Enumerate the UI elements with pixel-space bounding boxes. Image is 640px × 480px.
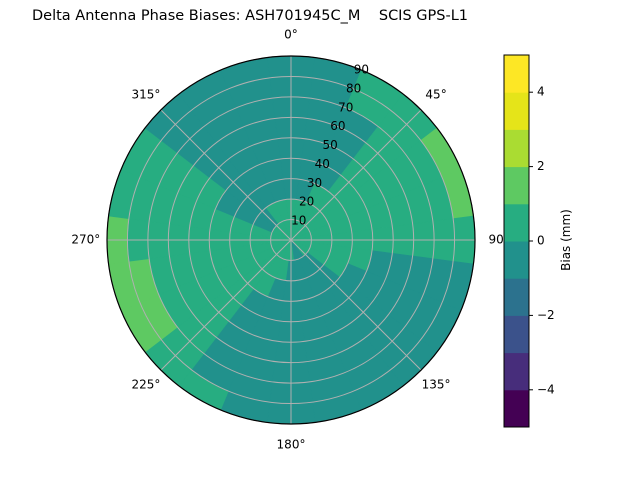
colorbar-tick-labels: 420−2−4	[529, 85, 555, 397]
colorbar-swatch	[504, 241, 529, 279]
colorbar-swatch	[504, 278, 529, 316]
colorbar-swatches	[504, 55, 529, 428]
colorbar-tick-label: −2	[537, 308, 555, 322]
colorbar-swatch	[504, 129, 529, 167]
colorbar-swatch	[504, 167, 529, 205]
colorbar-tick-label: 4	[537, 85, 545, 99]
colorbar-swatch	[504, 55, 529, 93]
colorbar-tick-label: −4	[537, 382, 555, 396]
colorbar-tick-label: 2	[537, 159, 545, 173]
colorbar-tick-label: 0	[537, 234, 545, 248]
colorbar-axes: 420−2−4 Bias (mm)	[0, 0, 640, 480]
figure-canvas: Delta Antenna Phase Biases: ASH701945C_M…	[0, 0, 640, 480]
colorbar-axis-label: Bias (mm)	[559, 209, 573, 271]
colorbar-swatch	[504, 204, 529, 242]
colorbar-swatch	[504, 353, 529, 391]
colorbar-swatch	[504, 92, 529, 130]
colorbar-swatch	[504, 390, 529, 428]
colorbar-swatch	[504, 315, 529, 353]
